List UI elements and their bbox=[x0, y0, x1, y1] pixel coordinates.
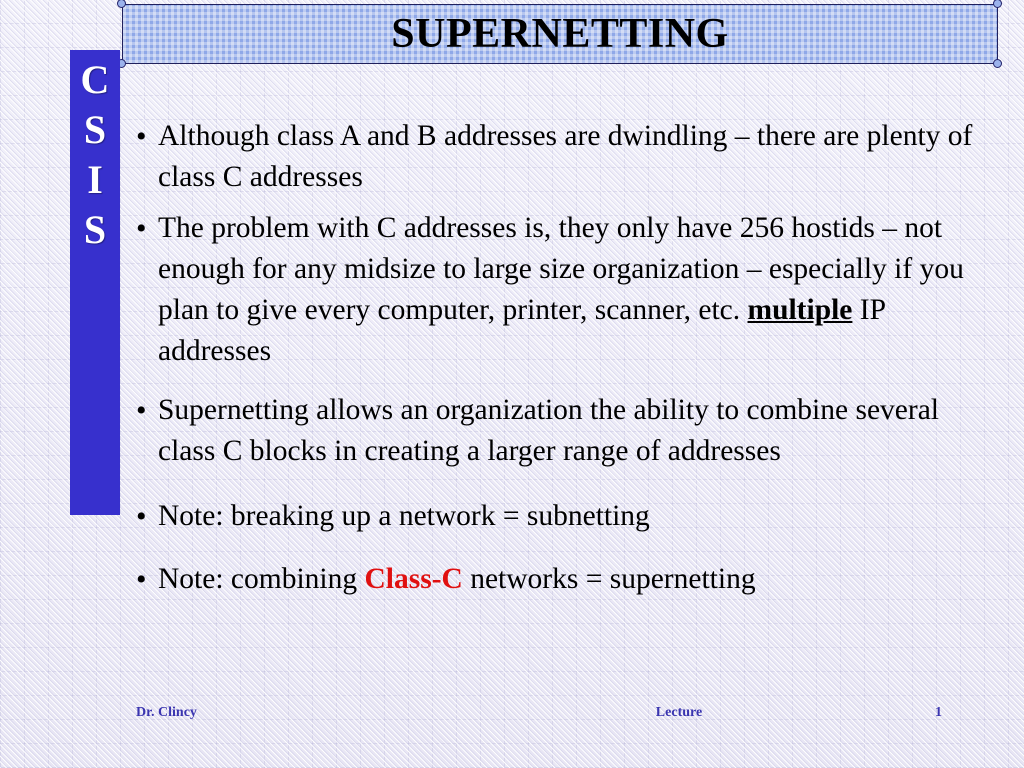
bullet-text-note-subnetting: Note: breaking up a network = subnetting bbox=[158, 496, 996, 537]
bullet-text-combine: Supernetting allows an organization the … bbox=[158, 390, 996, 472]
footer-center-cell: Lecture bbox=[536, 703, 822, 721]
list-item: • The problem with C addresses is, they … bbox=[136, 208, 996, 372]
bullet-emphasis-class-c: Class-C bbox=[364, 563, 462, 595]
bullet-emphasis-multiple: multiple bbox=[748, 294, 853, 326]
slide-footer: Dr. Clincy Lecture 1 bbox=[136, 703, 942, 721]
bullet-icon: • bbox=[136, 496, 158, 537]
list-item: • Note: breaking up a network = subnetti… bbox=[136, 496, 996, 537]
bullet-icon: • bbox=[136, 390, 158, 431]
bullet-part: Supernetting allows an organization the … bbox=[158, 394, 939, 467]
footer-center-label: Lecture bbox=[656, 705, 702, 720]
resize-handle-top-right[interactable] bbox=[993, 0, 1002, 8]
resize-handle-bottom-right[interactable] bbox=[993, 59, 1002, 68]
csis-sidebar-banner: C S I S bbox=[70, 50, 120, 515]
csis-letter-1: C bbox=[70, 60, 120, 100]
bullet-text-dwindling: Although class A and B addresses are dwi… bbox=[158, 116, 996, 198]
csis-letter-3: I bbox=[70, 160, 120, 200]
list-item: • Although class A and B addresses are d… bbox=[136, 116, 996, 198]
bullet-icon: • bbox=[136, 208, 158, 249]
bullet-text-note-supernetting: Note: combining Class-C networks = super… bbox=[158, 559, 996, 600]
bullet-part: Although class A and B addresses are dwi… bbox=[158, 120, 972, 193]
slide-canvas: SUPERNETTING C S I S • Although class A … bbox=[0, 0, 1024, 768]
bullet-part: networks = supernetting bbox=[463, 563, 756, 595]
footer-author: Dr. Clincy bbox=[136, 705, 197, 720]
page-title: SUPERNETTING bbox=[391, 13, 728, 55]
bullet-icon: • bbox=[136, 116, 158, 157]
bullet-part: Note: combining bbox=[158, 563, 364, 595]
footer-author-cell: Dr. Clincy bbox=[136, 703, 536, 721]
csis-letter-2: S bbox=[70, 110, 120, 150]
slide-body-placeholder[interactable]: • Although class A and B addresses are d… bbox=[136, 116, 996, 600]
list-item: • Supernetting allows an organization th… bbox=[136, 390, 996, 472]
csis-letter-4: S bbox=[70, 210, 120, 250]
bullet-icon: • bbox=[136, 559, 158, 600]
bullet-part: Note: breaking up a network = subnetting bbox=[158, 500, 650, 532]
footer-page-number: 1 bbox=[935, 705, 942, 720]
slide-title-box[interactable]: SUPERNETTING bbox=[122, 4, 998, 64]
list-item: • Note: combining Class-C networks = sup… bbox=[136, 559, 996, 600]
bullet-text-hostids: The problem with C addresses is, they on… bbox=[158, 208, 996, 372]
footer-page-cell: 1 bbox=[822, 703, 942, 721]
